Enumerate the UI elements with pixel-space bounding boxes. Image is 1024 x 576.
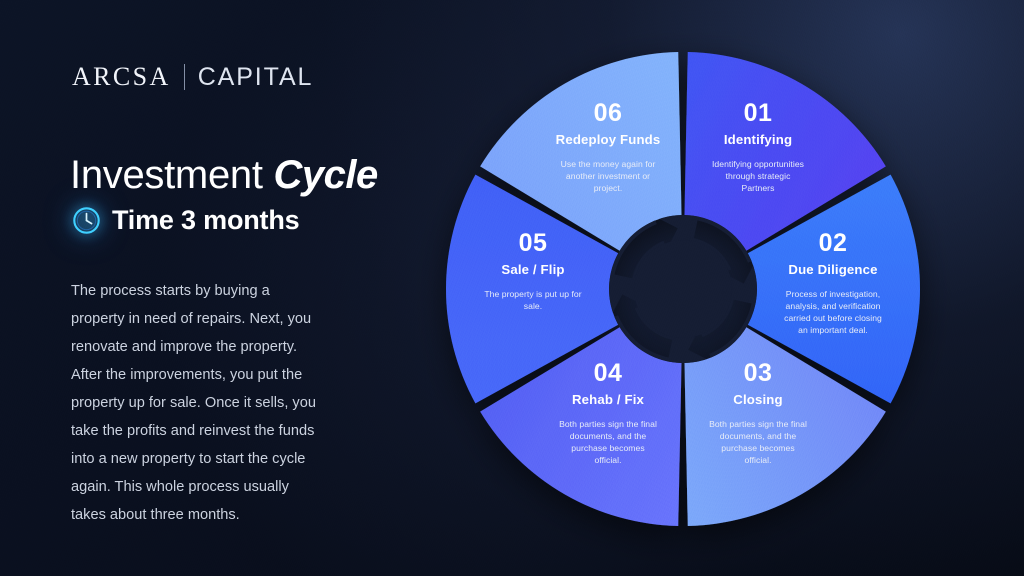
- segment-description-line: Both parties sign the final: [709, 419, 807, 429]
- segment-description-line: official.: [594, 455, 621, 465]
- segment-description-line: an important deal.: [798, 325, 868, 335]
- time-label: Time 3 months: [112, 207, 299, 234]
- segment-number: 05: [519, 229, 548, 257]
- segment-description-line: Both parties sign the final: [559, 419, 657, 429]
- time-badge: Time 3 months: [72, 206, 299, 235]
- cycle-donut-chart: 01IdentifyingIdentifying opportunitiesth…: [446, 52, 920, 526]
- segment-number: 06: [594, 99, 623, 127]
- clock-icon: [72, 206, 101, 235]
- segment-description-line: Partners: [742, 183, 775, 193]
- segment-number: 03: [744, 359, 773, 387]
- segment-title: Due Diligence: [788, 262, 877, 277]
- brand-name-primary: ARCSA: [72, 64, 171, 90]
- segment-title: Sale / Flip: [501, 262, 564, 277]
- segment-description-line: The property is put up for: [484, 289, 581, 299]
- hub-core: [634, 240, 732, 338]
- segment-description-line: documents, and the: [720, 431, 797, 441]
- segment-description-line: analysis, and verification: [786, 301, 881, 311]
- brand-logo: ARCSA CAPITAL: [72, 64, 313, 90]
- segment-description-line: Use the money again for: [561, 159, 656, 169]
- logo-divider: [184, 64, 185, 90]
- segment-title: Closing: [733, 392, 782, 407]
- segment-number: 01: [744, 99, 773, 127]
- slide-canvas: ARCSA CAPITAL Investment Cycle Time 3 mo…: [0, 0, 1024, 576]
- segment-description-line: purchase becomes: [571, 443, 644, 453]
- segment-title: Identifying: [724, 132, 792, 147]
- segment-number: 04: [594, 359, 623, 387]
- segment-description-line: official.: [744, 455, 771, 465]
- description-paragraph: The process starts by buying a property …: [71, 277, 316, 529]
- segment-description-line: documents, and the: [570, 431, 647, 441]
- segment-description-line: project.: [594, 183, 623, 193]
- brand-name-secondary: CAPITAL: [198, 65, 314, 90]
- segment-description-line: purchase becomes: [721, 443, 794, 453]
- page-title-bold: Cycle: [273, 153, 377, 197]
- segment-description-line: sale.: [524, 301, 542, 311]
- segment-description-line: Process of investigation,: [786, 289, 880, 299]
- segment-description-line: carried out before closing: [784, 313, 882, 323]
- segment-description-line: Identifying opportunities: [712, 159, 804, 169]
- segment-description-line: another investment or: [566, 171, 650, 181]
- segment-title: Rehab / Fix: [572, 392, 645, 407]
- segment-title: Redeploy Funds: [556, 132, 661, 147]
- investment-cycle-wheel: 01IdentifyingIdentifying opportunitiesth…: [446, 52, 920, 526]
- page-title-light: Investment: [70, 153, 273, 197]
- segment-description-line: through strategic: [726, 171, 792, 181]
- page-title: Investment Cycle: [70, 155, 378, 195]
- segment-number: 02: [819, 229, 848, 257]
